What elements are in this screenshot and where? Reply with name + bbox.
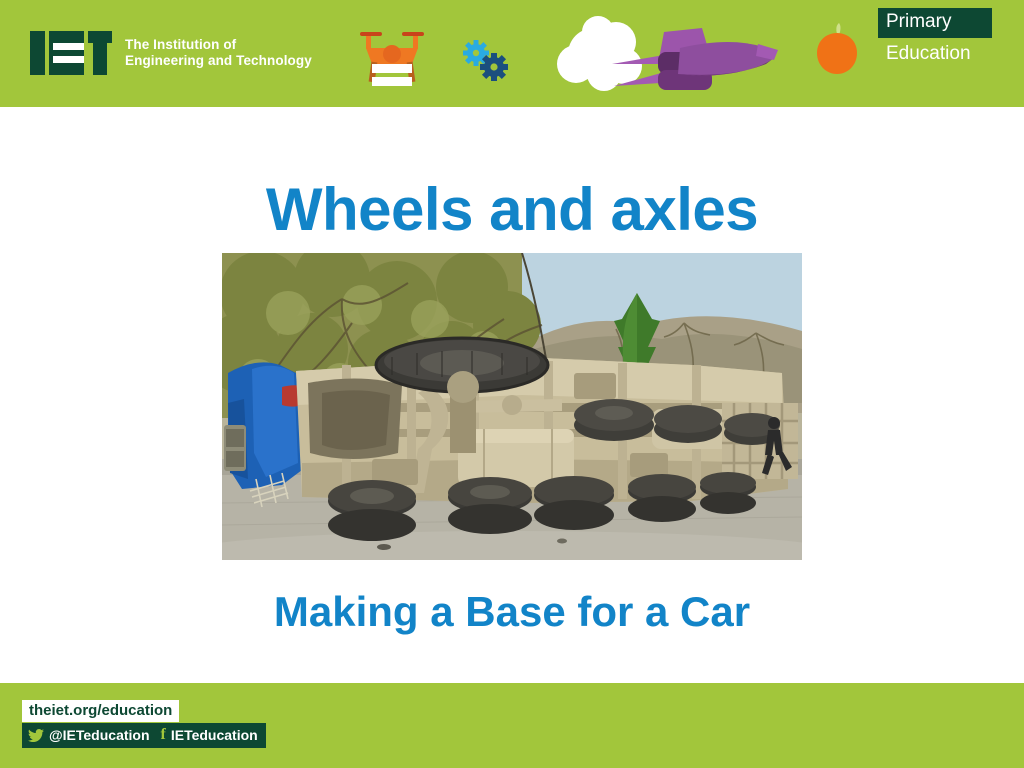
twitter-icon bbox=[28, 729, 44, 742]
apple-icon bbox=[812, 22, 862, 83]
footer-contact-block: theiet.org/education @IETeducation f IET… bbox=[22, 700, 266, 748]
twitter-handle[interactable]: @IETeducation bbox=[49, 727, 150, 743]
cloud-icon bbox=[557, 16, 642, 91]
facebook-handle[interactable]: IETeducation bbox=[171, 727, 258, 743]
gears-icon bbox=[462, 40, 510, 87]
iet-wordmark: The Institution of Engineering and Techn… bbox=[125, 37, 312, 69]
primary-education-badge: Primary Education bbox=[878, 8, 1008, 65]
truck-photo bbox=[222, 253, 802, 560]
primary-label: Primary bbox=[878, 8, 992, 38]
iet-logo-mark bbox=[30, 31, 112, 75]
social-handles: @IETeducation f IETeducation bbox=[22, 723, 266, 748]
space-shuttle-icon bbox=[552, 12, 782, 103]
header-band: The Institution of Engineering and Techn… bbox=[0, 0, 1024, 107]
website-url[interactable]: theiet.org/education bbox=[22, 700, 179, 722]
education-label: Education bbox=[878, 38, 1008, 65]
slide-title: Wheels and axles bbox=[0, 175, 1024, 244]
drone-icon bbox=[352, 20, 432, 95]
slide-subtitle: Making a Base for a Car bbox=[0, 588, 1024, 636]
footer-band: theiet.org/education @IETeducation f IET… bbox=[0, 683, 1024, 768]
facebook-icon: f bbox=[161, 726, 166, 744]
iet-logo: The Institution of Engineering and Techn… bbox=[30, 31, 312, 75]
